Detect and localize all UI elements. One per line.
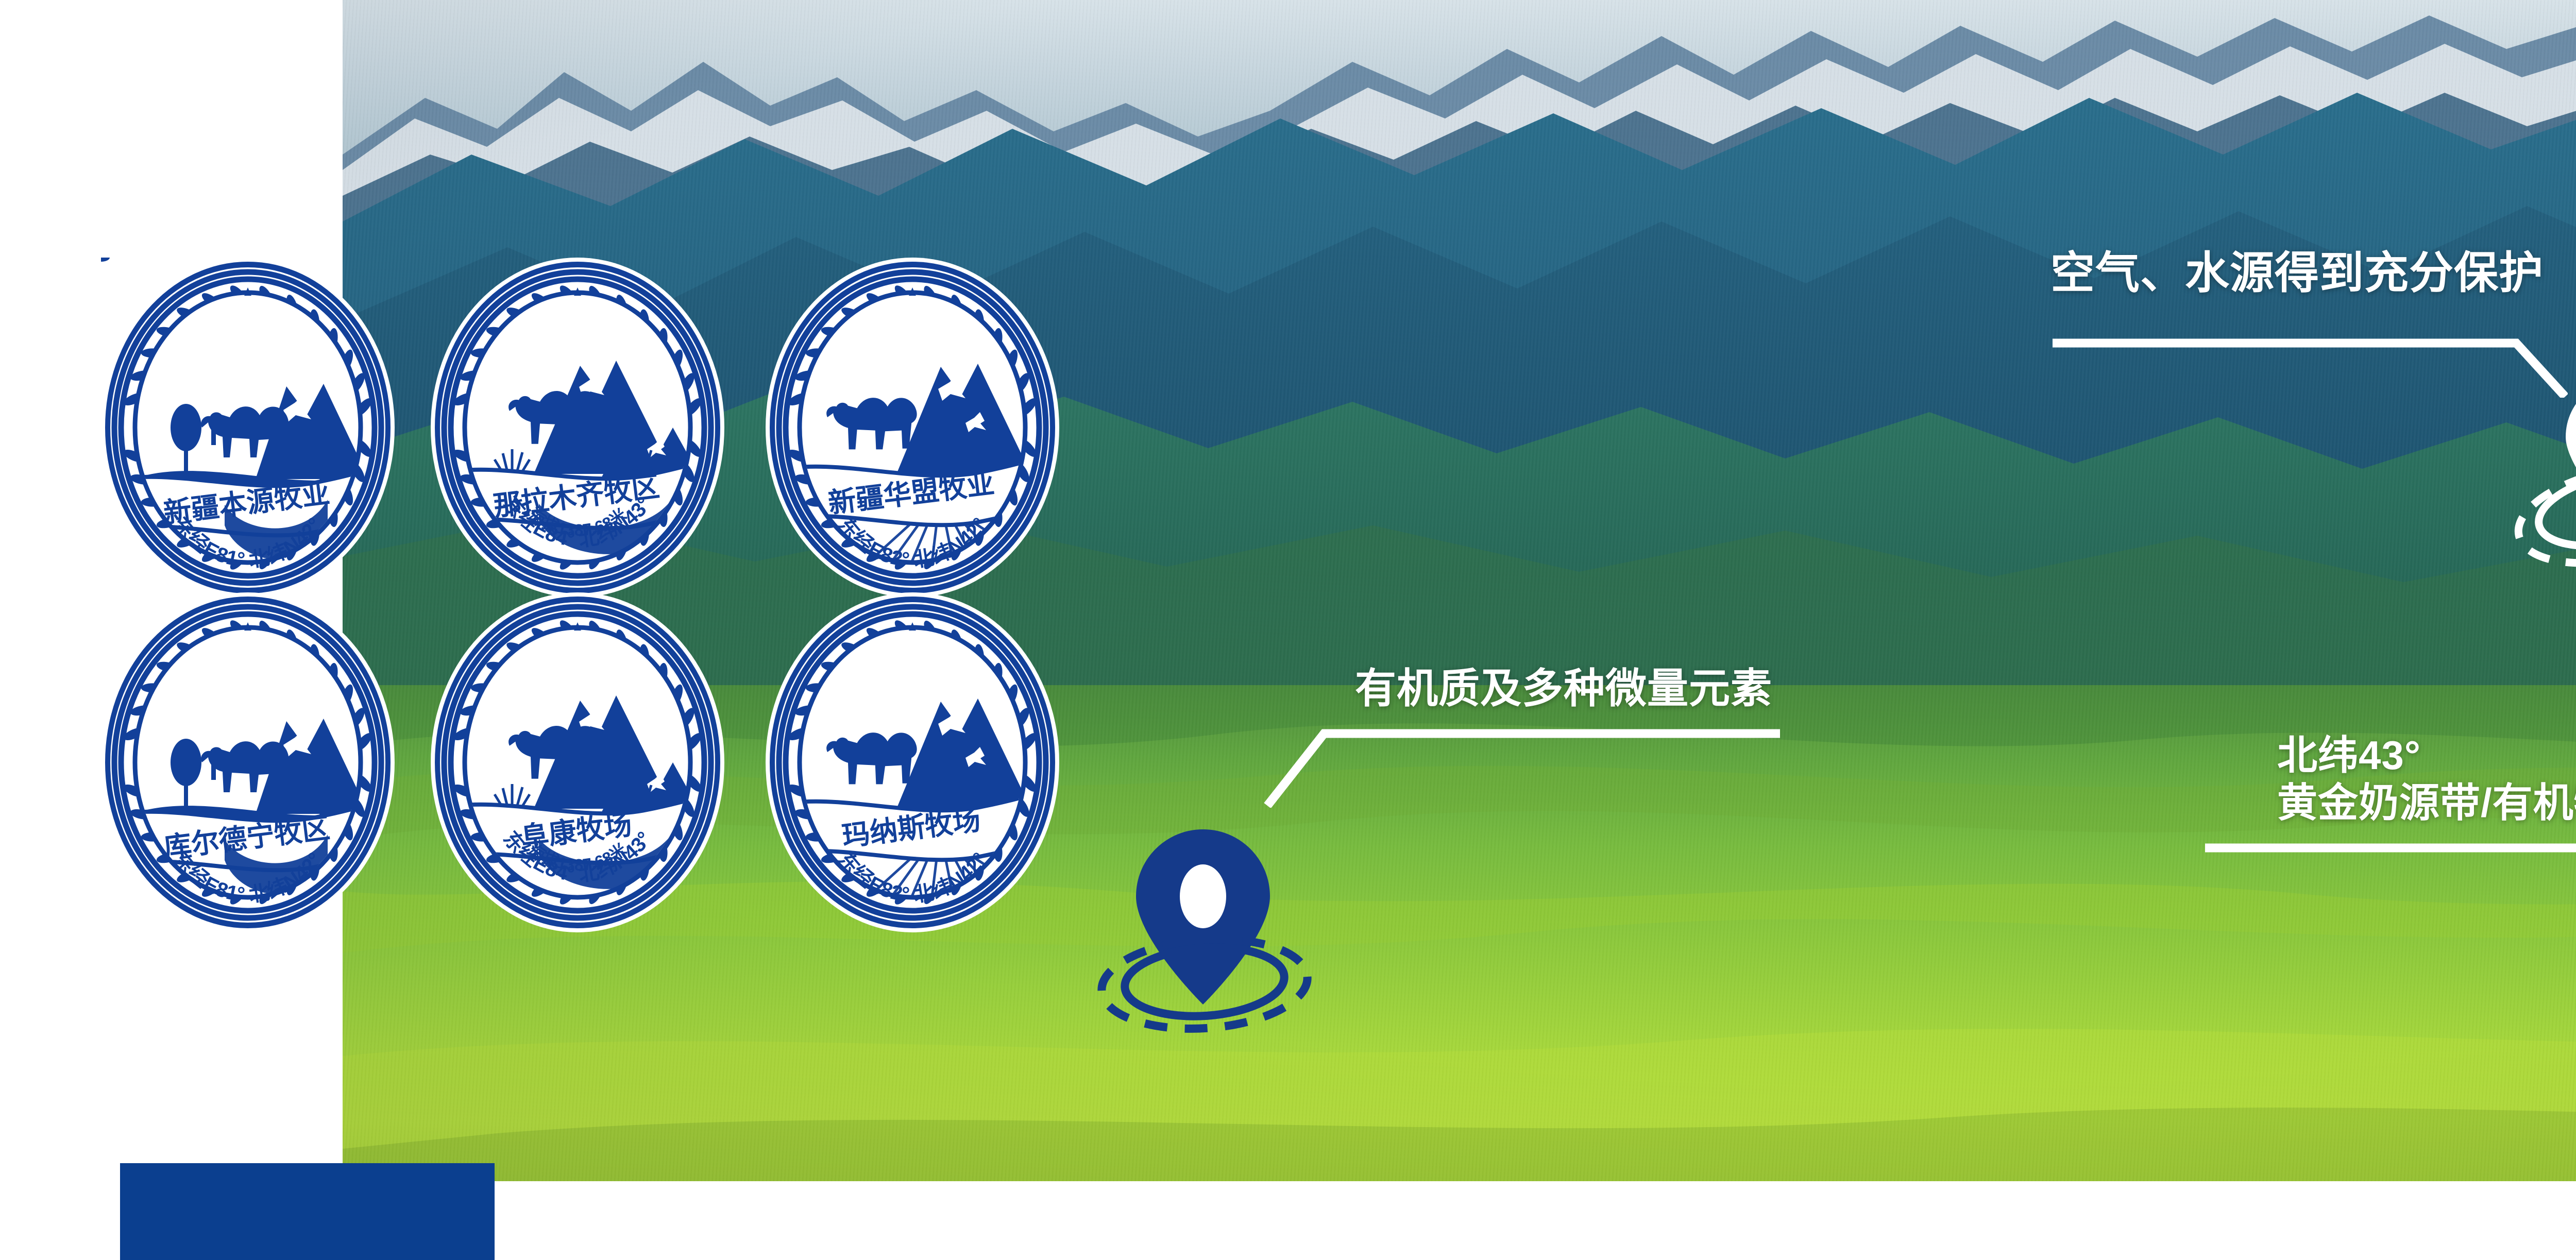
- ranch-badge[interactable]: 玛纳斯牧场 东经E82° 北纬N42°: [766, 592, 1059, 932]
- map-pin-icon: [2504, 361, 2576, 577]
- ranch-seal-icon: 新疆本源牧业 东经E81° 北纬N42°: [101, 258, 395, 598]
- ranch-badge[interactable]: 阜康牧场 海拔1387.68米 东经E84° 北纬N43°: [431, 592, 724, 932]
- ranch-seal-icon: 那拉木齐牧区 海拔1387.68米 东经E84° 北纬N43°: [431, 258, 724, 598]
- callout-leader-line: [2053, 336, 2568, 398]
- callout-latitude: 北纬43° 黄金奶源带/有机牧场: [2277, 731, 2576, 1041]
- callout-latitude-label: 北纬43° 黄金奶源带/有机牧场: [2277, 731, 2576, 826]
- ranch-badge[interactable]: 新疆华盟牧业 东经E82° 北纬N42°: [766, 258, 1059, 598]
- map-pin-organic[interactable]: [1097, 819, 1340, 1041]
- ranch-seal-icon: 玛纳斯牧场 东经E82° 北纬N42°: [766, 592, 1059, 932]
- ranch-seal-icon: 新疆华盟牧业 东经E82° 北纬N42°: [766, 258, 1059, 598]
- ranch-badge[interactable]: 新疆本源牧业 东经E81° 北纬N42°: [101, 258, 395, 598]
- map-pin-icon: [1097, 819, 1340, 1041]
- poster-canvas: 新疆本源牧业 东经E81° 北纬N42°: [0, 0, 2576, 1260]
- callout-leader-line: [1262, 725, 1783, 808]
- callout-organic-label: 有机质及多种微量元素: [1355, 665, 2128, 713]
- callout-organic-matter: 有机质及多种微量元素: [1355, 665, 2128, 932]
- callout-leader-line: [2205, 841, 2576, 918]
- ranch-seal-icon: 阜康牧场 海拔1387.68米 东经E84° 北纬N43°: [431, 592, 724, 932]
- ranch-seal-icon: 库尔德宁牧区 东经E81° 北纬N42°: [101, 592, 395, 932]
- ranch-badge[interactable]: 库尔德宁牧区 东经E81° 北纬N42°: [101, 592, 395, 932]
- callout-air-water: 空气、水源得到充分保护: [2050, 247, 2576, 536]
- callout-air-label: 空气、水源得到充分保护: [2050, 247, 2576, 299]
- ranch-badge-grid: 新疆本源牧业 东经E81° 北纬N42°: [101, 258, 1095, 927]
- bottom-blue-bar: [120, 1163, 495, 1260]
- map-pin-air[interactable]: [2504, 361, 2576, 577]
- ranch-badge[interactable]: 那拉木齐牧区 海拔1387.68米 东经E84° 北纬N43°: [431, 258, 724, 598]
